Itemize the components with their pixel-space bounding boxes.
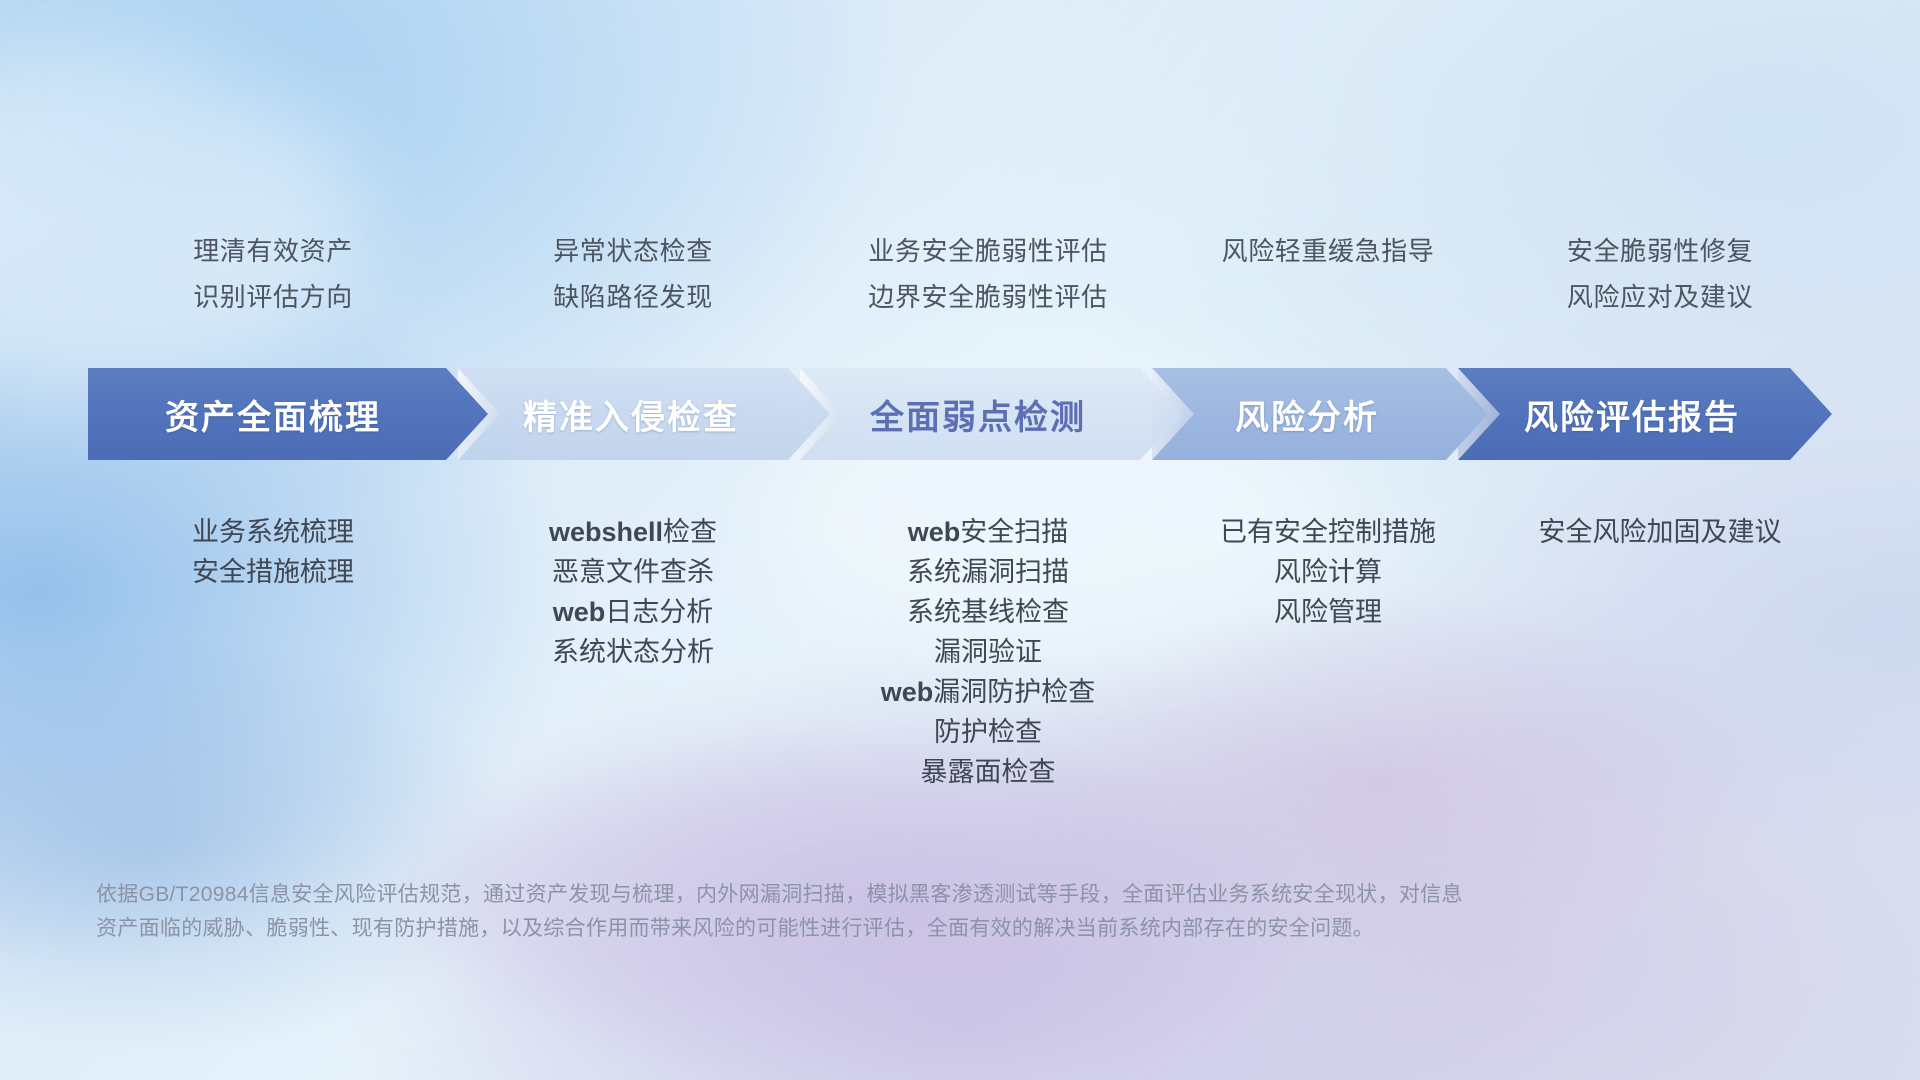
- list-item-emphasis: web: [881, 677, 934, 707]
- list-asset-inventory: 业务系统梳理 安全措施梳理: [88, 512, 458, 592]
- footer-line-2: 资产面临的威胁、脆弱性、现有防护措施，以及综合作用而带来风险的可能性进行评估，全…: [96, 912, 1636, 946]
- list-item-label: 安全扫描: [960, 517, 1068, 547]
- list-item: 暴露面检查: [808, 752, 1168, 792]
- list-item: 风险计算: [1168, 552, 1488, 592]
- chevron-stage-risk-report[interactable]: 风险评估报告: [1458, 368, 1832, 460]
- list-item-label: 业务系统梳理: [192, 517, 354, 547]
- note-text: 识别评估方向: [88, 274, 458, 320]
- list-item-label: 系统基线检查: [907, 597, 1069, 627]
- list-item: 漏洞验证: [808, 632, 1168, 672]
- list-item: 系统漏洞扫描: [808, 552, 1168, 592]
- list-item: 防护检查: [808, 712, 1168, 752]
- bottom-lists-row: 业务系统梳理 安全措施梳理 webshell检查 恶意文件查杀 web日志分析 …: [88, 512, 1832, 792]
- chevron-label: 风险评估报告: [1524, 390, 1766, 439]
- list-item: 风险管理: [1168, 592, 1488, 632]
- list-item-label: 漏洞验证: [934, 637, 1042, 667]
- slide-content: 理清有效资产 识别评估方向 异常状态检查 缺陷路径发现 业务安全脆弱性评估 边界…: [0, 0, 1920, 1080]
- list-item-emphasis: web: [553, 597, 606, 627]
- note-text: 风险轻重缓急指导: [1168, 228, 1488, 274]
- list-item: web漏洞防护检查: [808, 672, 1168, 712]
- top-notes-intrusion-check: 异常状态检查 缺陷路径发现: [458, 228, 808, 320]
- footer-description: 依据GB/T20984信息安全风险评估规范，通过资产发现与梳理，内外网漏洞扫描，…: [96, 878, 1636, 946]
- chevron-label: 全面弱点检测: [870, 390, 1112, 439]
- list-item-label: 系统状态分析: [552, 637, 714, 667]
- slide-canvas: 理清有效资产 识别评估方向 异常状态检查 缺陷路径发现 业务安全脆弱性评估 边界…: [0, 0, 1920, 1080]
- list-item-label: 防护检查: [934, 717, 1042, 747]
- note-text: 安全脆弱性修复: [1488, 228, 1832, 274]
- top-notes-asset-inventory: 理清有效资产 识别评估方向: [88, 228, 458, 320]
- top-notes-risk-report: 安全脆弱性修复 风险应对及建议: [1488, 228, 1832, 320]
- list-item: 安全风险加固及建议: [1488, 512, 1832, 552]
- top-notes-row: 理清有效资产 识别评估方向 异常状态检查 缺陷路径发现 业务安全脆弱性评估 边界…: [88, 228, 1832, 320]
- chevron-stage-weakness-detection[interactable]: 全面弱点检测: [800, 368, 1182, 460]
- list-item-label: 漏洞防护检查: [933, 677, 1095, 707]
- list-item-label: 风险管理: [1274, 597, 1382, 627]
- note-text: 风险应对及建议: [1488, 274, 1832, 320]
- list-item-label: 风险计算: [1274, 557, 1382, 587]
- list-risk-analysis: 已有安全控制措施 风险计算 风险管理: [1168, 512, 1488, 632]
- list-item: 系统基线检查: [808, 592, 1168, 632]
- list-item-label: 安全措施梳理: [192, 557, 354, 587]
- list-item-label: 暴露面检查: [921, 757, 1056, 787]
- list-weakness-detection: web安全扫描 系统漏洞扫描 系统基线检查 漏洞验证 web漏洞防护检查 防护检…: [808, 512, 1168, 792]
- note-text: 缺陷路径发现: [458, 274, 808, 320]
- list-item-label: 已有安全控制措施: [1220, 517, 1436, 547]
- note-text: 理清有效资产: [88, 228, 458, 274]
- list-item: web日志分析: [458, 592, 808, 632]
- note-text: 业务安全脆弱性评估: [808, 228, 1168, 274]
- list-item: 已有安全控制措施: [1168, 512, 1488, 552]
- chevron-stage-risk-analysis[interactable]: 风险分析: [1152, 368, 1488, 460]
- note-text: 异常状态检查: [458, 228, 808, 274]
- top-notes-weakness-detection: 业务安全脆弱性评估 边界安全脆弱性评估: [808, 228, 1168, 320]
- list-item: 业务系统梳理: [88, 512, 458, 552]
- chevron-label: 精准入侵检查: [523, 390, 765, 439]
- list-item: web安全扫描: [808, 512, 1168, 552]
- list-item: 系统状态分析: [458, 632, 808, 672]
- process-chevron-band: 资产全面梳理 精准入侵检查 全面弱点检测 风险分析 风险评估报告: [88, 368, 1832, 460]
- list-item-label: 恶意文件查杀: [552, 557, 714, 587]
- list-item-label: 系统漏洞扫描: [907, 557, 1069, 587]
- list-item: 安全措施梳理: [88, 552, 458, 592]
- chevron-stage-asset-inventory[interactable]: 资产全面梳理: [88, 368, 488, 460]
- list-item-label: 日志分析: [605, 597, 713, 627]
- list-intrusion-check: webshell检查 恶意文件查杀 web日志分析 系统状态分析: [458, 512, 808, 672]
- top-notes-risk-analysis: 风险轻重缓急指导: [1168, 228, 1488, 320]
- list-item: webshell检查: [458, 512, 808, 552]
- list-item: 恶意文件查杀: [458, 552, 808, 592]
- list-item-emphasis: web: [908, 517, 961, 547]
- list-risk-report: 安全风险加固及建议: [1488, 512, 1832, 552]
- footer-line-1: 依据GB/T20984信息安全风险评估规范，通过资产发现与梳理，内外网漏洞扫描，…: [96, 878, 1636, 912]
- list-item-emphasis: webshell: [549, 517, 663, 547]
- chevron-label: 风险分析: [1235, 390, 1405, 439]
- list-item-label: 检查: [663, 517, 717, 547]
- chevron-label: 资产全面梳理: [165, 390, 411, 439]
- list-item-label: 安全风险加固及建议: [1539, 517, 1782, 547]
- note-text: 边界安全脆弱性评估: [808, 274, 1168, 320]
- chevron-stage-intrusion-check[interactable]: 精准入侵检查: [458, 368, 830, 460]
